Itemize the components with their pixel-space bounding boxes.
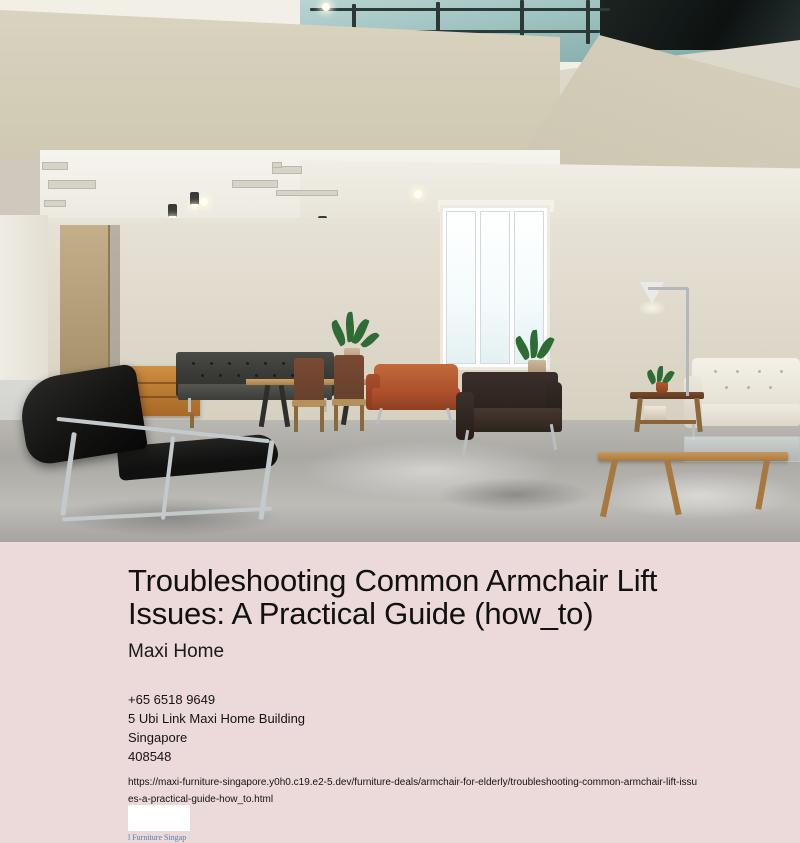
door-shadow [110,225,120,385]
ceiling-spotlight [414,190,422,198]
wooden-door [60,225,110,385]
white-tufted-sofa-back [692,358,800,410]
brown-leather-sofa-seat [372,388,460,410]
contact-country: Singapore [128,728,800,747]
contact-postal-code: 408548 [128,747,800,766]
contact-street: 5 Ubi Link Maxi Home Building [128,709,800,728]
floor-highlight [600,470,800,520]
track-light [168,204,177,217]
article-content: Troubleshooting Common Armchair Lift Iss… [0,542,800,808]
ceiling-vent [44,200,66,207]
upper-level-dark-area [600,0,800,50]
hero-image [0,0,800,542]
logo-image [128,805,190,831]
white-tufted-sofa-seat [688,404,800,426]
side-table-shelf [640,420,696,424]
window-pane [480,211,510,364]
showroom-scene [0,0,800,542]
ceiling-vent [42,162,68,170]
logo-caption: l Furniture Singap [128,833,186,843]
page-title: Troubleshooting Common Armchair Lift Iss… [128,564,728,630]
ceiling-vent [276,190,338,196]
page-url[interactable]: https://maxi-furniture-singapore.y0h0.c1… [128,774,698,808]
floor-lamp-arm [648,287,688,290]
sofa-leg [188,398,191,412]
plant-pot [656,382,668,393]
dresser-leg [190,414,194,428]
ceiling-spotlight [322,3,330,11]
railing-post [586,0,590,44]
floor-lamp-pole [686,288,689,396]
floor-lamp-glow [638,300,666,316]
window-pane [446,211,476,364]
company-name: Maxi Home [128,640,800,664]
dining-chair-back [334,355,364,401]
dining-chair-back [294,358,324,402]
track-light [190,192,199,205]
footer-logo[interactable]: l Furniture Singap [128,805,190,843]
ceiling-spotlight [200,198,208,206]
floor-reflection [440,478,590,512]
dining-chair-leg [320,406,324,432]
ceiling-vent [48,180,96,189]
coffee-table-top [598,452,788,461]
ceiling-vent [232,180,278,188]
contact-phone[interactable]: +65 6518 9649 [128,690,800,709]
dining-chair-leg [360,405,364,431]
contact-block: +65 6518 9649 5 Ubi Link Maxi Home Build… [128,690,800,766]
dining-chair-leg [294,406,298,432]
dining-chair-leg [334,405,338,431]
side-table-magazines [644,406,666,421]
ceiling-vent [272,162,282,168]
